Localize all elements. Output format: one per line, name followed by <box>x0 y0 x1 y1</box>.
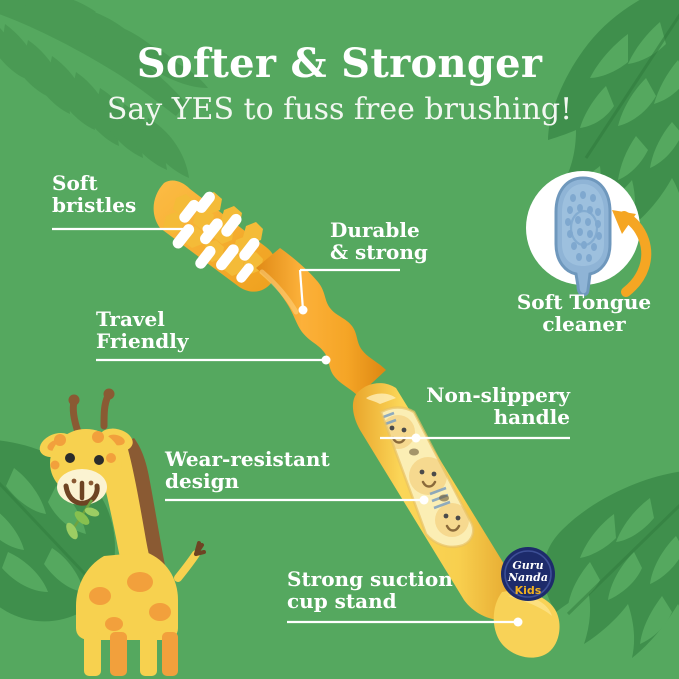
product-infographic: Guru Nanda Kids <box>0 0 679 679</box>
callout-durable-strong: Durable & strong <box>330 219 428 264</box>
callout-travel-friendly: Travel Friendly <box>96 308 188 353</box>
callout-non-slippery: Non-slippery handle <box>380 384 570 429</box>
callout-soft-tongue-cleaner: Soft Tongue cleaner <box>495 291 673 336</box>
callout-soft-bristles: Soft bristles <box>52 172 136 217</box>
callout-wear-resistant: Wear-resistant design <box>165 448 330 493</box>
page-subtitle: Say YES to fuss free brushing! <box>0 93 679 127</box>
page-title: Softer & Stronger <box>0 42 679 87</box>
callout-suction-cup: Strong suction cup stand <box>287 568 453 613</box>
